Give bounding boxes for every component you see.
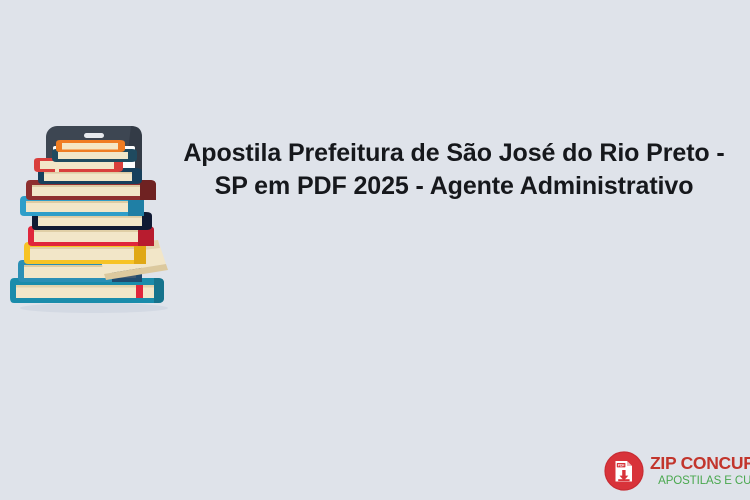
logo-wordmark: ZIP CONCURSOS APOSTILAS E CURSOS [650, 455, 750, 487]
logo-subtitle: APOSTILAS E CURSOS [650, 476, 750, 488]
pdf-download-icon: PDF [604, 451, 644, 491]
page-canvas: Apostila Prefeitura de São José do Rio P… [0, 0, 750, 500]
page-title: Apostila Prefeitura de São José do Rio P… [182, 128, 726, 212]
book-orange-top [56, 140, 125, 152]
svg-text:PDF: PDF [618, 464, 625, 468]
logo-title: ZIP CONCURSOS [650, 455, 750, 473]
page-title-line-2: SP em PDF 2025 - Agente Administrativo [215, 170, 694, 203]
page-title-line-1: Apostila Prefeitura de São José do Rio P… [183, 137, 724, 170]
zip-concursos-logo[interactable]: PDF ZIP CONCURSOS APOSTILAS E CURSOS [604, 449, 744, 493]
books-stack-illustration [8, 118, 180, 318]
